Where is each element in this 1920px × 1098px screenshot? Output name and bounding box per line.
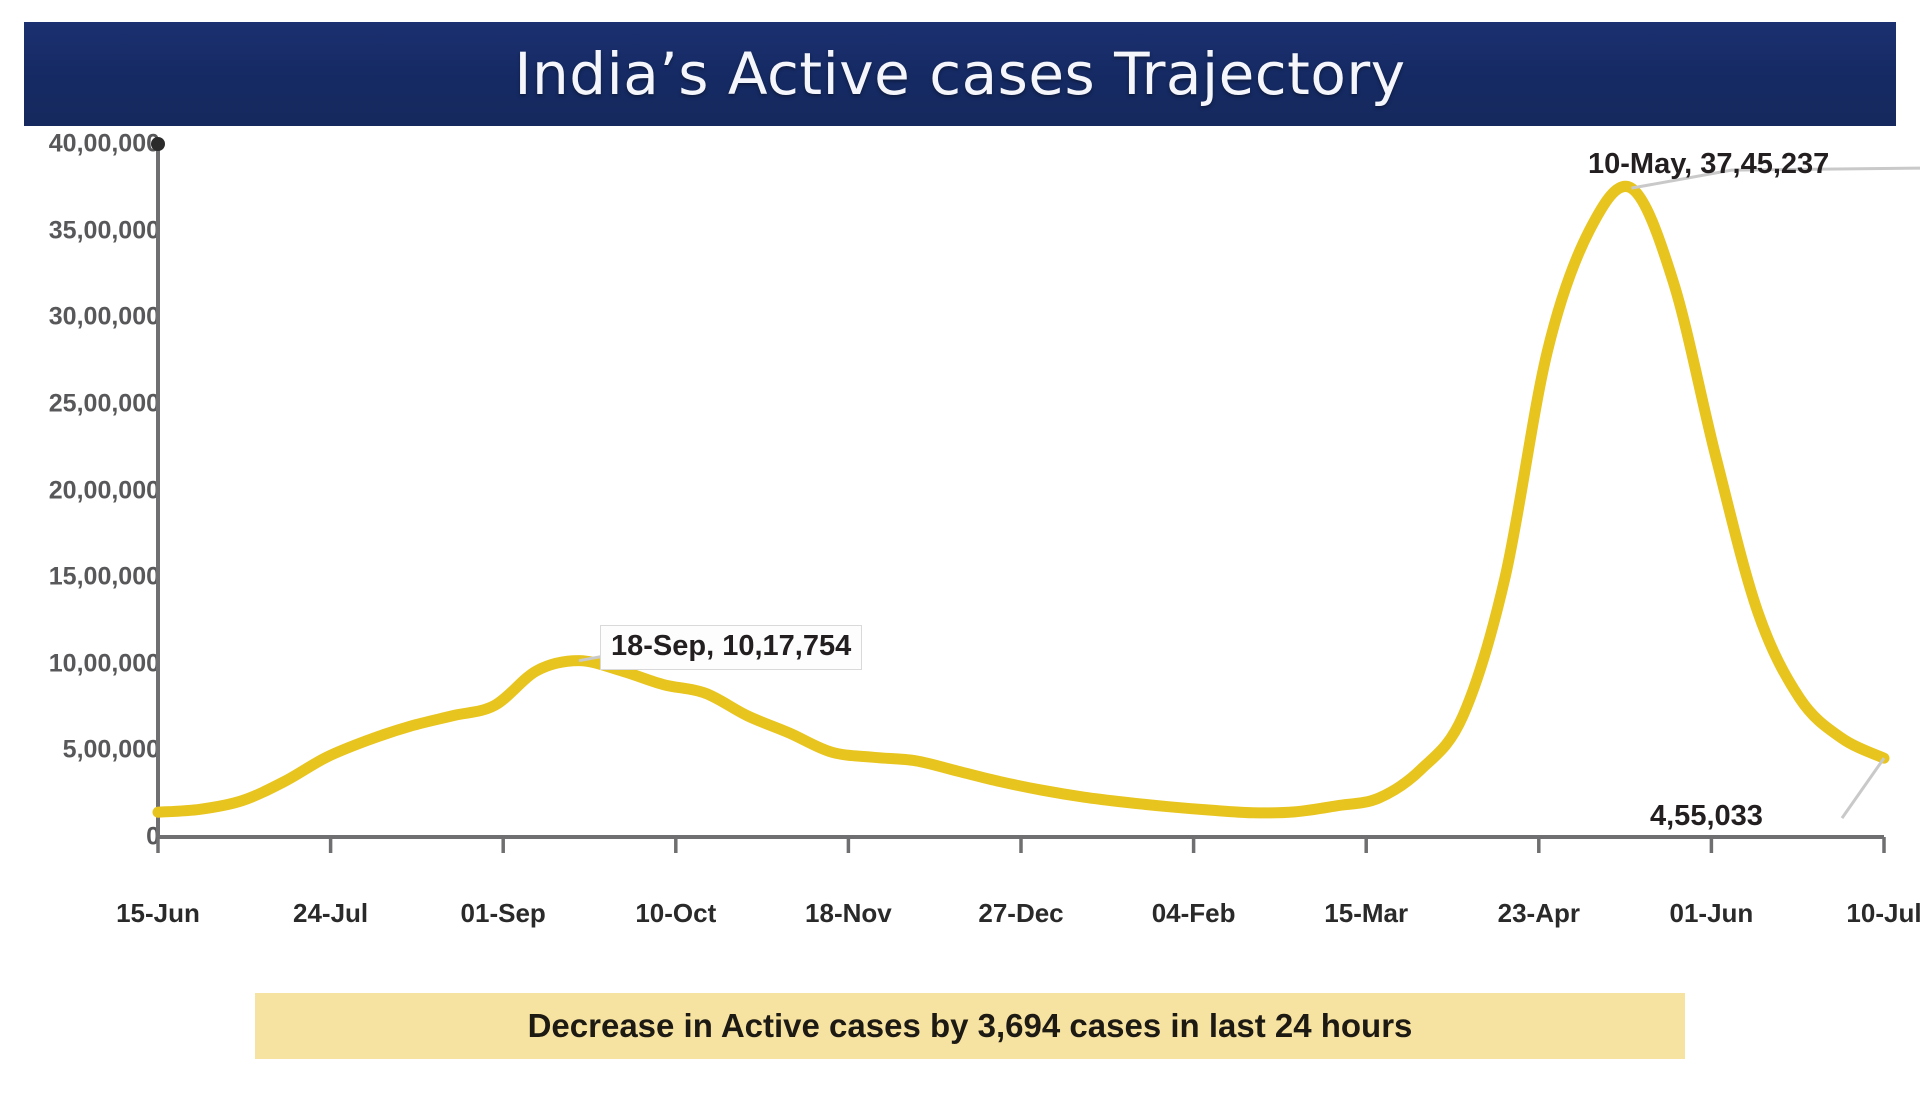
page-title: India’s Active cases Trajectory: [514, 40, 1405, 108]
chart-plot-area: [0, 126, 1920, 926]
caption-banner: Decrease in Active cases by 3,694 cases …: [255, 993, 1685, 1059]
title-banner: India’s Active cases Trajectory: [24, 22, 1896, 126]
annotation-latest-value: 4,55,033: [1650, 800, 1763, 833]
x-tick-label: 15-Jun: [116, 898, 200, 929]
x-tick-label: 27-Dec: [978, 898, 1063, 929]
x-tick-label: 01-Jun: [1669, 898, 1753, 929]
active-cases-line-chart: [0, 126, 1920, 926]
x-axis-labels: 15-Jun24-Jul01-Sep10-Oct18-Nov27-Dec04-F…: [0, 898, 1920, 948]
x-axis-ticks: [158, 837, 1884, 853]
x-tick-label: 10-Jul: [1846, 898, 1920, 929]
x-tick-label: 18-Nov: [805, 898, 892, 929]
x-tick-label: 01-Sep: [461, 898, 546, 929]
annotation-second-wave-peak: 10-May, 37,45,237: [1588, 148, 1829, 181]
y-axis-cap: [151, 137, 165, 151]
annotation-first-wave-peak: 18-Sep, 10,17,754: [600, 625, 862, 670]
x-tick-label: 23-Apr: [1498, 898, 1580, 929]
leader-line-latest: [1842, 758, 1884, 818]
x-tick-label: 24-Jul: [293, 898, 368, 929]
x-tick-label: 04-Feb: [1152, 898, 1236, 929]
series-line-active-cases: [158, 186, 1884, 813]
caption-text: Decrease in Active cases by 3,694 cases …: [528, 1007, 1413, 1045]
x-tick-label: 15-Mar: [1324, 898, 1408, 929]
x-tick-label: 10-Oct: [635, 898, 716, 929]
